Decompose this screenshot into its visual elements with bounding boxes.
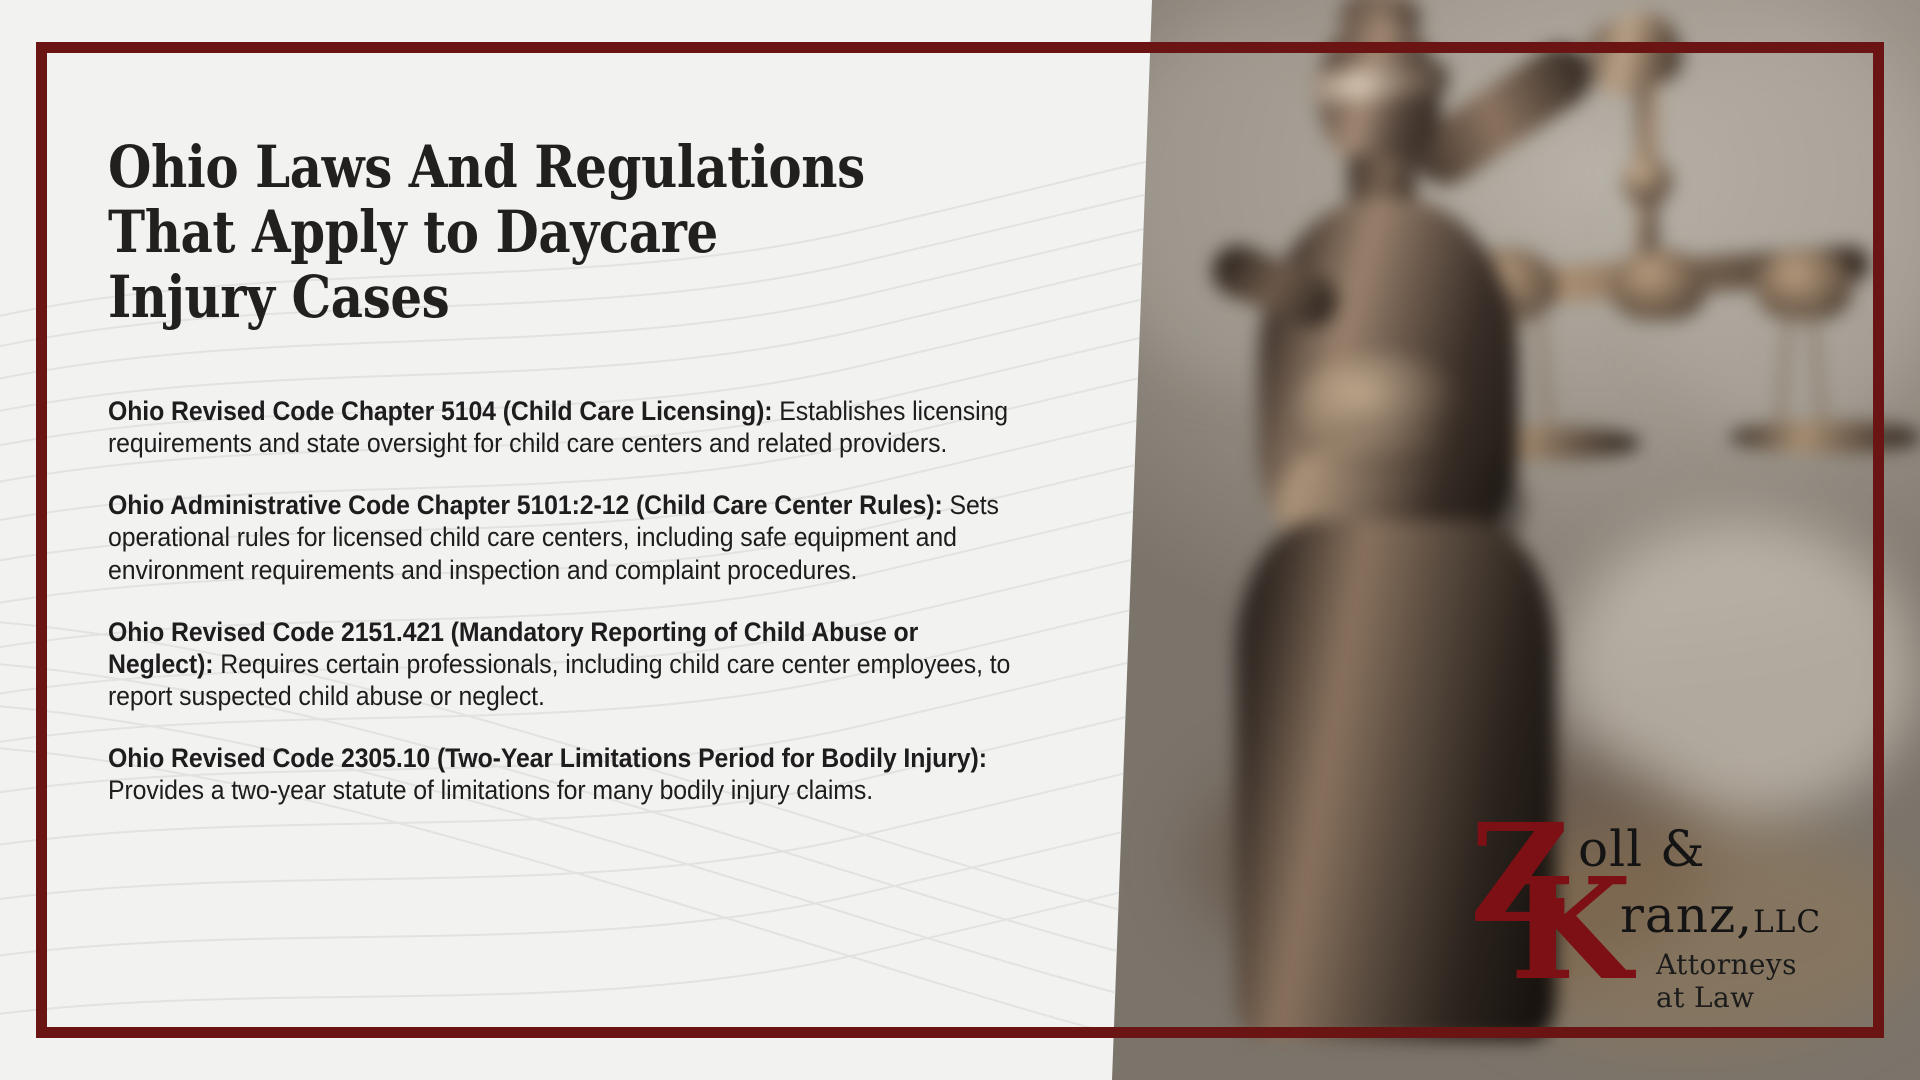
provision-lead: Ohio Revised Code Chapter 5104 (Child Ca… [108,396,772,426]
provision-body: Requires certain professionals, includin… [108,649,1010,711]
page-title: Ohio Laws And Regulations That Apply to … [108,135,865,330]
content-panel: Ohio Laws And Regulations That Apply to … [0,0,1152,1080]
logo-name-second: ranz,LLC [1620,886,1821,944]
provision-lead: Ohio Administrative Code Chapter 5101:2-… [108,490,943,520]
list-item: Ohio Revised Code 2305.10 (Two-Year Limi… [108,742,1108,806]
scales-knob [1622,156,1672,206]
logo-name-first: oll & [1578,820,1706,878]
list-item: Ohio Administrative Code Chapter 5101:2-… [108,489,1108,585]
logo-tagline: Attorneys at Law [1656,948,1810,1014]
list-item: Ohio Revised Code Chapter 5104 (Child Ca… [108,395,1108,459]
logo-monogram-k: K [1510,860,1632,1000]
infographic-canvas: Ohio Laws And Regulations That Apply to … [0,0,1920,1080]
scales-chain [1534,292,1552,432]
list-item: Ohio Revised Code 2151.421 (Mandatory Re… [108,616,1108,712]
title-line-2: That Apply to Daycare [108,198,718,266]
provisions-list: Ohio Revised Code Chapter 5104 (Child Ca… [108,395,1108,836]
provision-lead: Ohio Revised Code 2305.10 (Two-Year Limi… [108,743,987,773]
scales-scrollwork [1610,248,1706,320]
logo-suffix: LLC [1753,904,1821,940]
title-line-1: Ohio Laws And Regulations [108,133,865,201]
scales-scrollwork [1756,248,1852,320]
scales-pan-right [1730,420,1920,454]
title-line-3: Injury Cases [108,263,449,331]
provision-body: Provides a two-year statute of limitatio… [108,775,873,805]
firm-logo[interactable]: Z K oll & ranz,LLC Attorneys at Law [1470,800,1810,950]
statue-fist [1579,4,1689,103]
statue-robe-skirt [1236,520,1556,1040]
